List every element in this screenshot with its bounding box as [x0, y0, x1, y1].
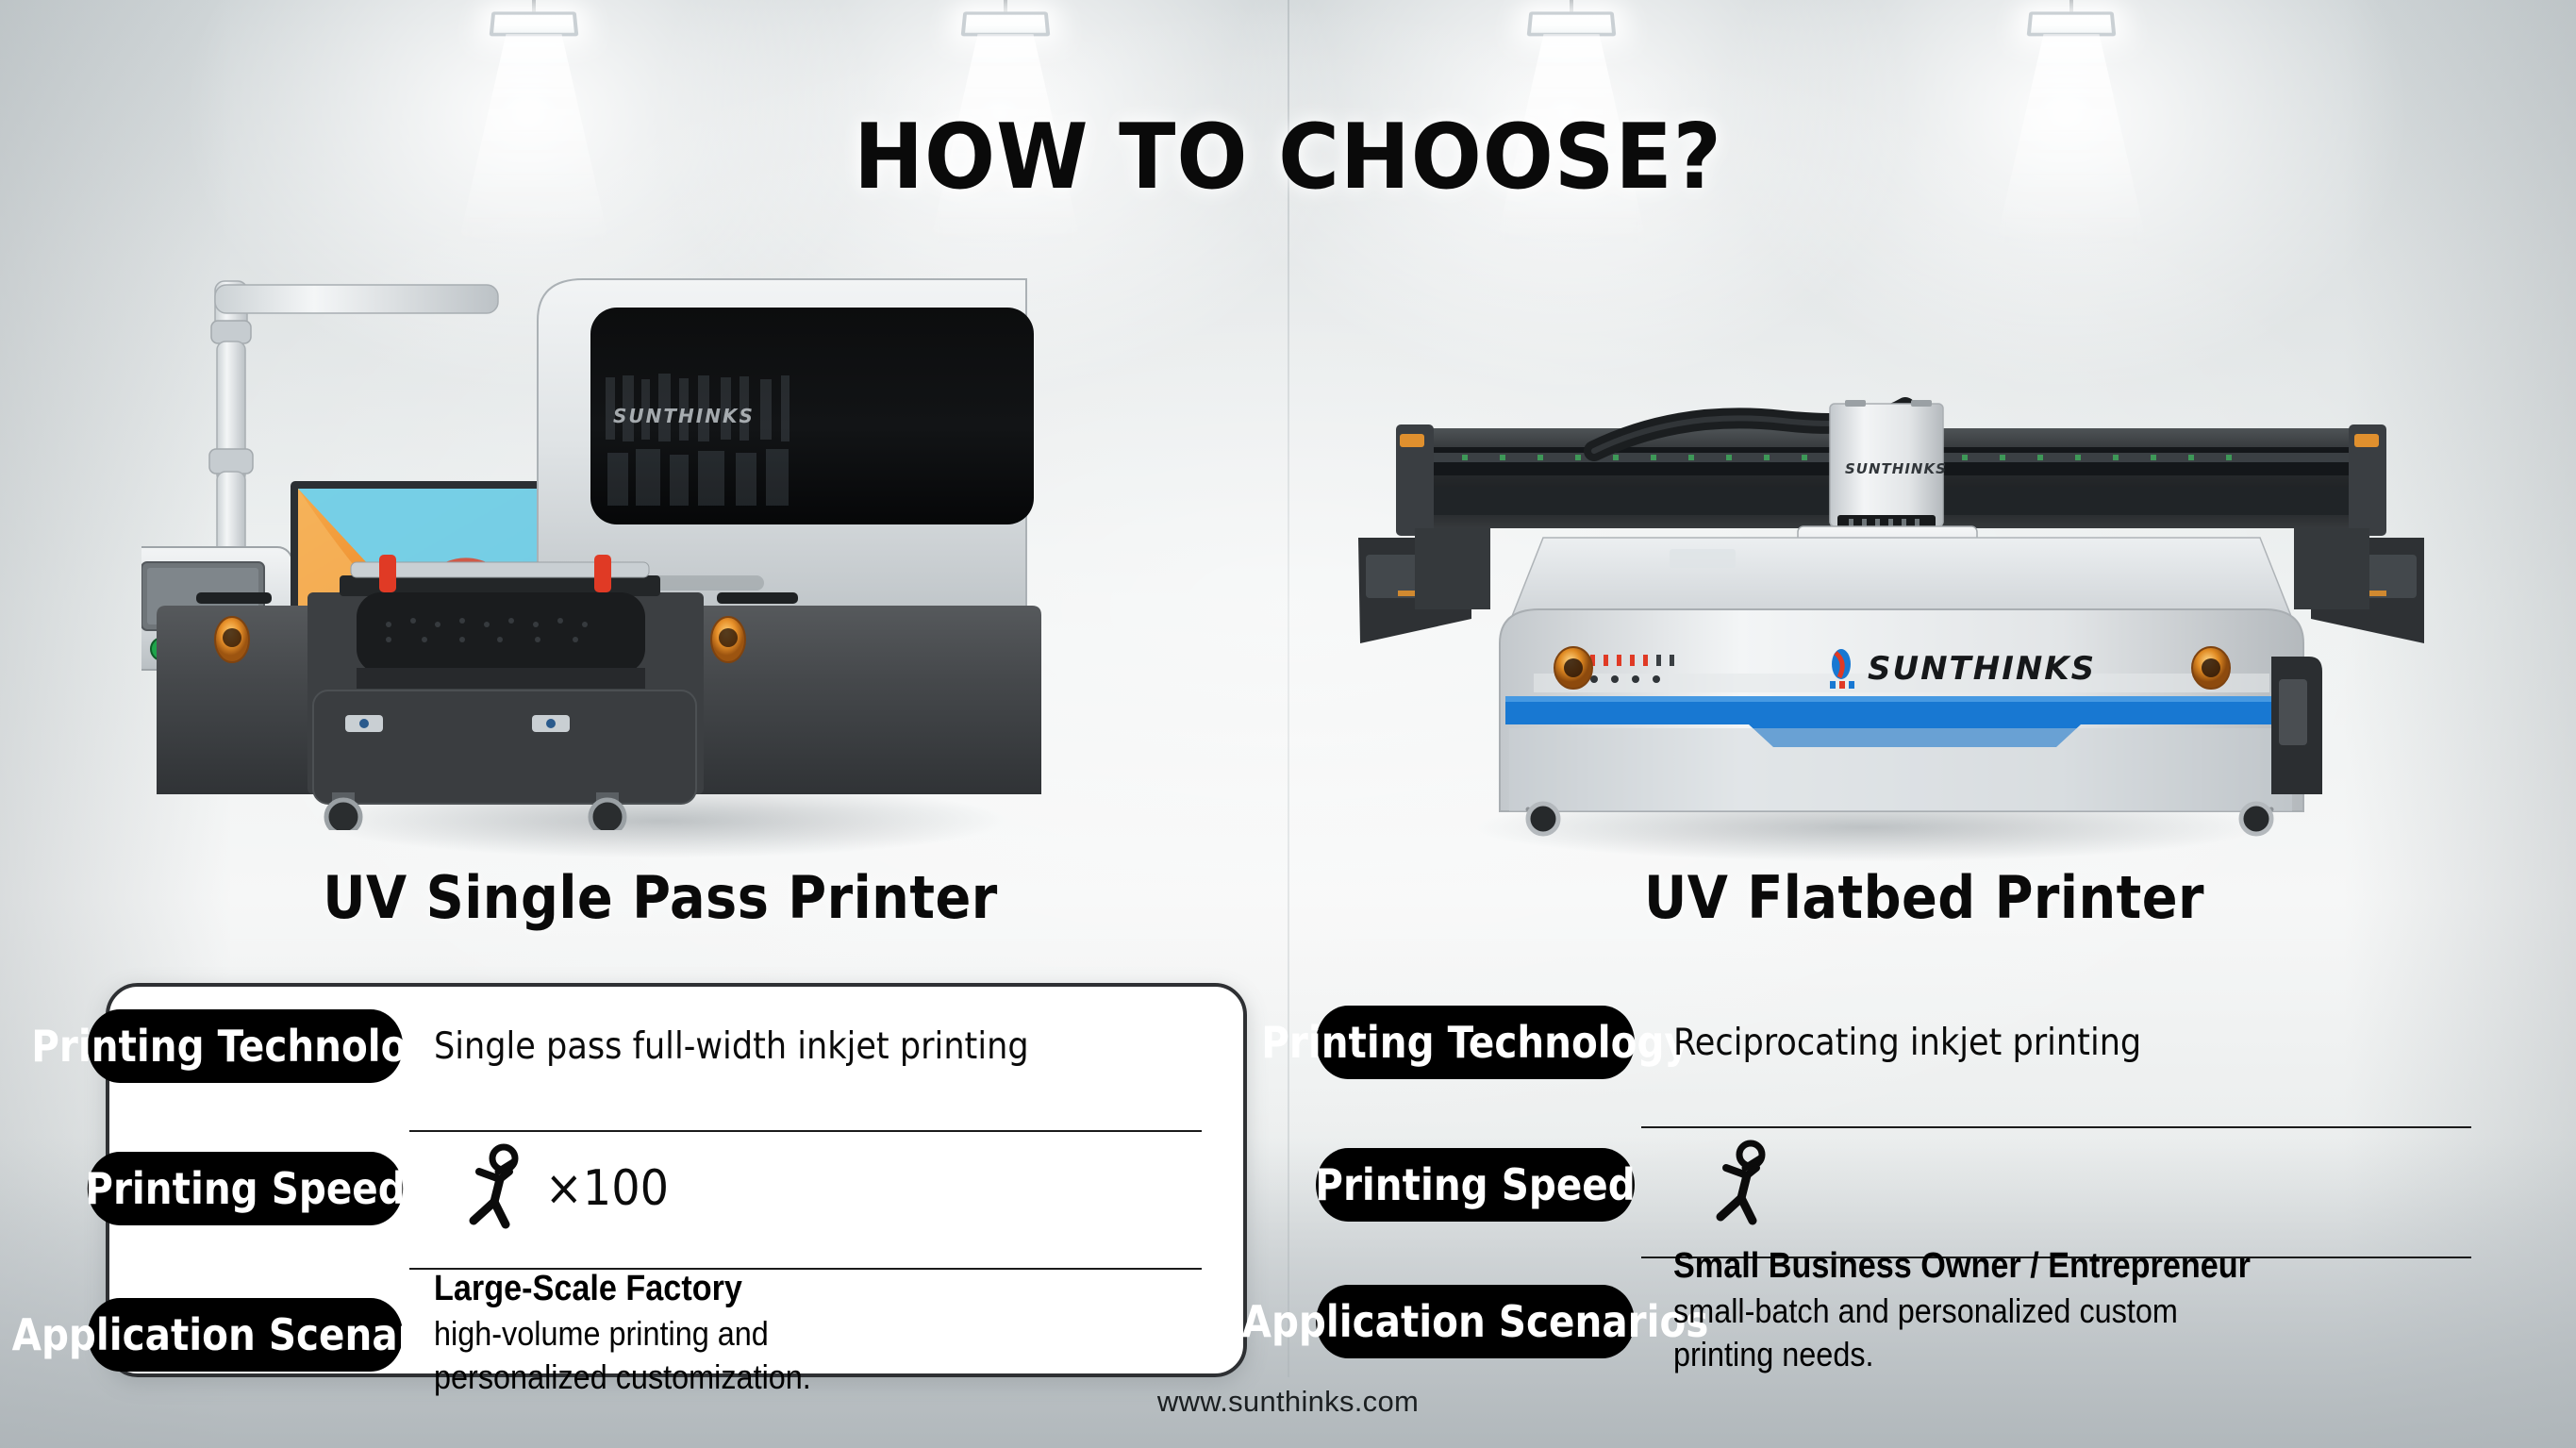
spec-label-printing-technology: Printing Technology	[1316, 1006, 1635, 1079]
running-person-icon	[457, 1143, 530, 1234]
brand-wordmark: SUNTHINKS	[1868, 650, 2096, 688]
ceiling-panel-light-icon	[962, 9, 1049, 38]
spec-row-application-scenarios: Application Scenarios Small Business Own…	[1294, 1268, 2315, 1376]
red-grip-left	[379, 555, 396, 592]
infographic-canvas: HOW TO CHOOSE?	[0, 0, 2576, 1448]
spec-card-right: Printing Technology Reciprocating inkjet…	[1294, 983, 2511, 1370]
svg-text:SUNTHINKS: SUNTHINKS	[1845, 460, 1947, 477]
spec-value-scenario-line-1: small-batch and personalized custom	[1673, 1290, 2251, 1333]
spec-row-printing-technology: Printing Technology Reciprocating inkjet…	[1294, 1006, 2193, 1079]
lamp-panel	[490, 11, 579, 36]
spec-value-scenario-line-2: printing needs.	[1673, 1333, 2251, 1376]
svg-text:SUNTHINKS: SUNTHINKS	[613, 405, 755, 427]
spec-label-printing-technology: Printing Technology	[88, 1009, 403, 1083]
spec-value-printing-technology: Single pass full-width inkjet printing	[434, 1025, 1029, 1068]
spec-row-printing-speed: Printing Speed ×100	[66, 1143, 674, 1234]
spec-card-left: Printing Technology Single pass full-wid…	[106, 983, 1247, 1377]
row-divider-1	[409, 1130, 1202, 1132]
spec-value-scenario-headline: Small Business Owner / Entrepreneur	[1673, 1243, 2251, 1290]
lamp-panel	[961, 11, 1051, 36]
uv-single-pass-printer-illustration: SUNTHINKS	[141, 264, 1085, 830]
spec-value-scenario-headline: Large-Scale Factory	[434, 1266, 811, 1312]
spec-value-printing-technology: Reciprocating inkjet printing	[1673, 1022, 2141, 1064]
ceiling-panel-light-icon	[1528, 9, 1615, 38]
print-drum	[340, 555, 660, 689]
row-divider-1	[1641, 1126, 2471, 1128]
spec-value-scenario-line-1: high-volume printing and	[434, 1312, 811, 1356]
ceiling-panel-light-icon	[2028, 9, 2115, 38]
uv-flatbed-printer-illustration: SUNTHINKS SUNTHINKS	[1358, 396, 2424, 840]
service-door	[313, 691, 696, 804]
spec-row-application-scenarios: Application Scenarios Large-Scale Factor…	[66, 1272, 853, 1399]
red-grip-right	[594, 555, 611, 592]
running-person-icon	[1703, 1140, 1777, 1230]
page-title: HOW TO CHOOSE?	[91, 106, 2486, 209]
product-title-right: UV Flatbed Printer	[1381, 863, 2468, 932]
lamp-panel	[2027, 11, 2117, 36]
spec-row-printing-technology: Printing Technology Single pass full-wid…	[66, 1009, 1095, 1083]
product-title-left: UV Single Pass Printer	[117, 863, 1204, 932]
lamp-panel	[1527, 11, 1617, 36]
spec-value-printing-speed: ×100	[545, 1160, 669, 1217]
spec-label-printing-speed: Printing Speed	[88, 1152, 403, 1225]
ceiling-panel-light-icon	[490, 9, 577, 38]
spec-row-printing-speed: Printing Speed	[1294, 1140, 1787, 1230]
printer-body: SUNTHINKS	[1500, 609, 2322, 812]
spec-label-printing-speed: Printing Speed	[1316, 1148, 1635, 1222]
spec-label-application-scenarios: Application Scenarios	[88, 1298, 403, 1372]
footer-website-url: www.sunthinks.com	[0, 1385, 2576, 1419]
spec-label-application-scenarios: Application Scenarios	[1316, 1285, 1635, 1358]
